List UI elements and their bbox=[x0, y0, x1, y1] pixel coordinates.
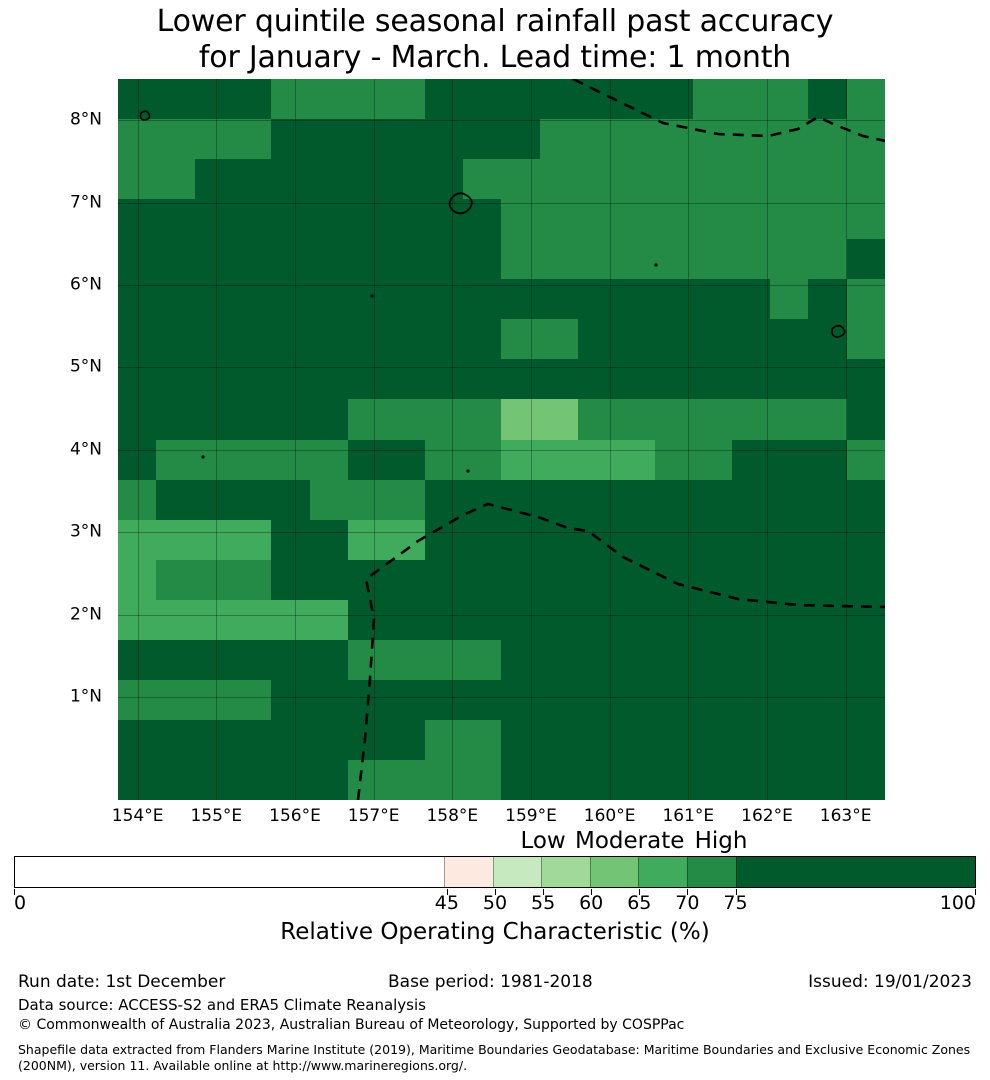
heatmap-cell bbox=[770, 199, 808, 239]
heatmap-cell bbox=[655, 520, 693, 560]
heatmap-cell bbox=[386, 480, 424, 520]
heatmap-cell bbox=[578, 720, 616, 760]
heatmap-cell bbox=[156, 440, 194, 480]
heatmap-cell bbox=[501, 640, 539, 680]
heatmap-cell bbox=[847, 760, 885, 800]
heatmap-cell bbox=[770, 279, 808, 319]
heatmap-cell bbox=[808, 720, 846, 760]
heatmap-cell bbox=[540, 319, 578, 359]
heatmap-cell bbox=[540, 359, 578, 399]
colorbar-tick-label: 45 bbox=[435, 892, 459, 914]
title-line-2: for January - March. Lead time: 1 month bbox=[0, 40, 990, 76]
heatmap-cell bbox=[156, 79, 194, 119]
heatmap-cell bbox=[271, 79, 309, 119]
x-tick-label: 163°E bbox=[820, 806, 872, 826]
heatmap-cell bbox=[808, 359, 846, 399]
heatmap-cell bbox=[348, 440, 386, 480]
heatmap-cell bbox=[233, 680, 271, 720]
heatmap-cell bbox=[425, 680, 463, 720]
heatmap-cell bbox=[655, 159, 693, 199]
colorbar-tick-label: 75 bbox=[723, 892, 747, 914]
y-tick-label: 6°N bbox=[70, 277, 102, 294]
heatmap-cell bbox=[732, 399, 770, 439]
heatmap-cell bbox=[540, 440, 578, 480]
colorbar-category-high: High bbox=[695, 828, 748, 854]
shapefile-credit-line2: (200NM), version 11. Available online at… bbox=[18, 1058, 467, 1074]
heatmap-cell bbox=[310, 359, 348, 399]
heatmap-cell bbox=[233, 279, 271, 319]
heatmap-cell bbox=[617, 239, 655, 279]
heatmap-cell bbox=[655, 239, 693, 279]
heatmap-cell bbox=[693, 359, 731, 399]
heatmap-cell bbox=[501, 480, 539, 520]
heatmap-cell bbox=[310, 480, 348, 520]
colorbar-category-labels: LowModerateHigh bbox=[0, 828, 990, 856]
heatmap-cell bbox=[156, 119, 194, 159]
heatmap-cell bbox=[310, 319, 348, 359]
colorbar-segment bbox=[541, 857, 590, 887]
heatmap-cell bbox=[655, 480, 693, 520]
heatmap-cell bbox=[808, 640, 846, 680]
heatmap-cell bbox=[655, 359, 693, 399]
heatmap-cell bbox=[540, 239, 578, 279]
heatmap-cell bbox=[847, 480, 885, 520]
heatmap-cell bbox=[310, 760, 348, 800]
copyright-text: © Commonwealth of Australia 2023, Austra… bbox=[18, 1016, 684, 1034]
heatmap-cell bbox=[156, 319, 194, 359]
heatmap-cell bbox=[540, 79, 578, 119]
heatmap-cell bbox=[118, 199, 156, 239]
heatmap-cell bbox=[540, 119, 578, 159]
heatmap-cell bbox=[386, 79, 424, 119]
heatmap-cell bbox=[271, 359, 309, 399]
heatmap-cell bbox=[693, 760, 731, 800]
heatmap-cell bbox=[617, 680, 655, 720]
heatmap-cell bbox=[578, 279, 616, 319]
heatmap-cell bbox=[118, 680, 156, 720]
heatmap-cell bbox=[847, 600, 885, 640]
heatmap-cell bbox=[463, 79, 501, 119]
heatmap-cell bbox=[693, 119, 731, 159]
heatmap-cell bbox=[425, 399, 463, 439]
heatmap-cell bbox=[693, 600, 731, 640]
heatmap-cell bbox=[233, 640, 271, 680]
heatmap-cell bbox=[233, 319, 271, 359]
heatmap-cell bbox=[540, 199, 578, 239]
heatmap-cell bbox=[463, 440, 501, 480]
heatmap-cell bbox=[732, 199, 770, 239]
heatmap-cell bbox=[118, 239, 156, 279]
heatmap-cell bbox=[501, 199, 539, 239]
x-tick-label: 162°E bbox=[741, 806, 793, 826]
heatmap-cell bbox=[540, 640, 578, 680]
heatmap-cell bbox=[693, 560, 731, 600]
heatmap-cell bbox=[348, 560, 386, 600]
colorbar-tick-label: 50 bbox=[483, 892, 507, 914]
heatmap-cell bbox=[847, 319, 885, 359]
heatmap-cell bbox=[348, 600, 386, 640]
heatmap-cell bbox=[310, 520, 348, 560]
heatmap-cell bbox=[118, 760, 156, 800]
heatmap-cell bbox=[425, 239, 463, 279]
colorbar-segment bbox=[638, 857, 687, 887]
heatmap-cell bbox=[425, 720, 463, 760]
heatmap-cell bbox=[578, 199, 616, 239]
heatmap-cell bbox=[770, 600, 808, 640]
colorbar-segment bbox=[590, 857, 639, 887]
heatmap-cell bbox=[271, 319, 309, 359]
heatmap-cell bbox=[271, 399, 309, 439]
heatmap-cell bbox=[578, 480, 616, 520]
heatmap-cell bbox=[156, 399, 194, 439]
heatmap-cell bbox=[732, 560, 770, 600]
y-axis: 1°N2°N3°N4°N5°N6°N7°N8°N bbox=[0, 79, 112, 800]
heatmap-cell bbox=[195, 279, 233, 319]
heatmap-cell bbox=[310, 199, 348, 239]
map-plot-area bbox=[118, 79, 885, 800]
heatmap-cell bbox=[617, 359, 655, 399]
heatmap-cell bbox=[156, 600, 194, 640]
heatmap-cell bbox=[732, 520, 770, 560]
heatmap-cell bbox=[732, 79, 770, 119]
heatmap-cell bbox=[655, 720, 693, 760]
heatmap-cell bbox=[655, 640, 693, 680]
heatmap-cell bbox=[847, 79, 885, 119]
heatmap-cell bbox=[655, 440, 693, 480]
heatmap-cell bbox=[156, 520, 194, 560]
heatmap-cell bbox=[617, 319, 655, 359]
heatmap-cell bbox=[271, 600, 309, 640]
heatmap-cell bbox=[808, 560, 846, 600]
heatmap-cell bbox=[847, 359, 885, 399]
heatmap-cell bbox=[463, 560, 501, 600]
heatmap-cell bbox=[770, 399, 808, 439]
heatmap-cell bbox=[233, 239, 271, 279]
heatmap-cell bbox=[540, 480, 578, 520]
heatmap-cell bbox=[425, 520, 463, 560]
heatmap-cell bbox=[655, 760, 693, 800]
heatmap-cell bbox=[348, 119, 386, 159]
heatmap-cell bbox=[271, 680, 309, 720]
heatmap-cell bbox=[310, 79, 348, 119]
heatmap-cell bbox=[501, 520, 539, 560]
colorbar-tick-label: 0 bbox=[14, 892, 26, 914]
heatmap-cell bbox=[118, 359, 156, 399]
heatmap-cell bbox=[310, 279, 348, 319]
heatmap-cell bbox=[501, 79, 539, 119]
heatmap-cell bbox=[195, 600, 233, 640]
heatmap-cell bbox=[310, 119, 348, 159]
heatmap-cell bbox=[770, 480, 808, 520]
heatmap-cell bbox=[425, 279, 463, 319]
heatmap-cell bbox=[118, 600, 156, 640]
heatmap-cell bbox=[578, 440, 616, 480]
heatmap-cell bbox=[233, 199, 271, 239]
heatmap-cell bbox=[425, 600, 463, 640]
heatmap-cell bbox=[425, 159, 463, 199]
heatmap-cell bbox=[617, 79, 655, 119]
heatmap-cell bbox=[578, 359, 616, 399]
heatmap-cell bbox=[847, 560, 885, 600]
heatmap-cell bbox=[808, 239, 846, 279]
heatmap-cell bbox=[233, 560, 271, 600]
heatmap-cell bbox=[732, 359, 770, 399]
colorbar-tick-label: 100 bbox=[940, 892, 976, 914]
heatmap-cell bbox=[425, 79, 463, 119]
heatmap-cell bbox=[617, 520, 655, 560]
footer-row-primary: Run date: 1st December Base period: 1981… bbox=[0, 972, 990, 994]
footer: Run date: 1st December Base period: 1981… bbox=[0, 972, 990, 1080]
heatmap-cell bbox=[578, 239, 616, 279]
heatmap-cell bbox=[310, 560, 348, 600]
heatmap-cell bbox=[348, 79, 386, 119]
heatmap-cell bbox=[425, 199, 463, 239]
heatmap-cell bbox=[732, 319, 770, 359]
heatmap-cell bbox=[156, 560, 194, 600]
heatmap-cell bbox=[195, 199, 233, 239]
heatmap-cell bbox=[348, 640, 386, 680]
heatmap-cell bbox=[463, 720, 501, 760]
heatmap-cell bbox=[501, 119, 539, 159]
heatmap-cell bbox=[118, 480, 156, 520]
heatmap-cell bbox=[578, 399, 616, 439]
heatmap-cell bbox=[578, 680, 616, 720]
heatmap-cell bbox=[578, 560, 616, 600]
heatmap-cell bbox=[156, 359, 194, 399]
heatmap-cell bbox=[271, 560, 309, 600]
heatmap-cell bbox=[118, 159, 156, 199]
heatmap-cell bbox=[386, 640, 424, 680]
heatmap-cell bbox=[348, 720, 386, 760]
heatmap-cell bbox=[118, 279, 156, 319]
heatmap-cell bbox=[386, 319, 424, 359]
heatmap-cell bbox=[617, 760, 655, 800]
heatmap-cell bbox=[156, 680, 194, 720]
heatmap-cell bbox=[808, 319, 846, 359]
heatmap-cell bbox=[617, 640, 655, 680]
heatmap-cell bbox=[463, 319, 501, 359]
heatmap-cell bbox=[540, 520, 578, 560]
heatmap-cell bbox=[693, 199, 731, 239]
heatmap-cell bbox=[386, 720, 424, 760]
heatmap-cell bbox=[808, 680, 846, 720]
heatmap-cell bbox=[501, 600, 539, 640]
heatmap-cell bbox=[195, 239, 233, 279]
heatmap-cell bbox=[386, 359, 424, 399]
x-tick-label: 157°E bbox=[348, 806, 400, 826]
heatmap-cell bbox=[847, 720, 885, 760]
heatmap-cell bbox=[463, 399, 501, 439]
heatmap-cell bbox=[233, 79, 271, 119]
heatmap-cell bbox=[501, 440, 539, 480]
heatmap-cell bbox=[847, 640, 885, 680]
heatmap-cell bbox=[732, 279, 770, 319]
heatmap-cell bbox=[770, 239, 808, 279]
heatmap-cell bbox=[310, 680, 348, 720]
colorbar-ticks: 045505560657075100 bbox=[14, 889, 976, 913]
heatmap-cell bbox=[770, 359, 808, 399]
x-tick-label: 155°E bbox=[190, 806, 242, 826]
heatmap-cell bbox=[348, 199, 386, 239]
heatmap-cell bbox=[655, 399, 693, 439]
x-tick-label: 158°E bbox=[426, 806, 478, 826]
heatmap-cell bbox=[501, 319, 539, 359]
heatmap-cell bbox=[578, 600, 616, 640]
heatmap-cell bbox=[540, 399, 578, 439]
heatmap-cell bbox=[770, 79, 808, 119]
heatmap-cell bbox=[501, 399, 539, 439]
heatmap-cell bbox=[578, 319, 616, 359]
x-tick-label: 154°E bbox=[112, 806, 164, 826]
y-tick-label: 4°N bbox=[70, 441, 102, 458]
colorbar-segment bbox=[444, 857, 493, 887]
heatmap-cell bbox=[693, 520, 731, 560]
heatmap-cell bbox=[310, 640, 348, 680]
heatmap-cell bbox=[501, 239, 539, 279]
heatmap-cell bbox=[501, 760, 539, 800]
heatmap-cell bbox=[693, 720, 731, 760]
run-date-text: Run date: 1st December bbox=[18, 972, 225, 992]
heatmap-cell bbox=[195, 119, 233, 159]
heatmap-cell bbox=[617, 560, 655, 600]
heatmap-cell bbox=[770, 440, 808, 480]
heatmap-cell bbox=[693, 319, 731, 359]
heatmap-cell bbox=[271, 520, 309, 560]
heatmap-cell bbox=[310, 720, 348, 760]
heatmap-cell bbox=[348, 359, 386, 399]
x-tick-label: 156°E bbox=[269, 806, 321, 826]
heatmap-cell bbox=[425, 640, 463, 680]
heatmap-cell bbox=[540, 159, 578, 199]
colorbar-segment bbox=[687, 857, 736, 887]
x-tick-label: 159°E bbox=[505, 806, 557, 826]
heatmap-cell bbox=[808, 79, 846, 119]
heatmap-cell bbox=[847, 520, 885, 560]
heatmap-cell bbox=[693, 279, 731, 319]
heatmap-cell bbox=[233, 119, 271, 159]
heatmap-cell bbox=[617, 159, 655, 199]
heatmap-cell bbox=[271, 440, 309, 480]
heatmap-cell bbox=[233, 399, 271, 439]
heatmap-cell bbox=[463, 239, 501, 279]
y-tick-label: 5°N bbox=[70, 359, 102, 376]
heatmap-cell bbox=[233, 720, 271, 760]
heatmap-cell bbox=[693, 680, 731, 720]
heatmap-cell bbox=[540, 279, 578, 319]
heatmap-cell bbox=[847, 199, 885, 239]
colorbar-segment bbox=[736, 857, 975, 887]
heatmap-cell bbox=[617, 279, 655, 319]
heatmap-cell bbox=[655, 680, 693, 720]
heatmap-cell bbox=[501, 560, 539, 600]
y-tick-label: 7°N bbox=[70, 194, 102, 211]
heatmap-cell bbox=[463, 199, 501, 239]
heatmap-cell bbox=[808, 520, 846, 560]
heatmap-cell bbox=[195, 319, 233, 359]
heatmap-cell bbox=[463, 279, 501, 319]
heatmap-cell bbox=[233, 159, 271, 199]
heatmap-cell bbox=[348, 279, 386, 319]
heatmap-cell bbox=[271, 159, 309, 199]
heatmap-cell bbox=[156, 159, 194, 199]
heatmap-cell bbox=[578, 520, 616, 560]
heatmap-cell bbox=[463, 640, 501, 680]
heatmap-cell bbox=[808, 760, 846, 800]
heatmap-cell bbox=[195, 720, 233, 760]
y-tick-label: 8°N bbox=[70, 112, 102, 129]
heatmap-cell bbox=[808, 159, 846, 199]
heatmap-cell bbox=[655, 279, 693, 319]
heatmap-cell bbox=[348, 760, 386, 800]
heatmap-cell bbox=[847, 239, 885, 279]
heatmap-cell bbox=[271, 199, 309, 239]
colorbar-category-low: Low bbox=[520, 828, 565, 854]
heatmap-cell bbox=[732, 239, 770, 279]
heatmap-cell bbox=[617, 119, 655, 159]
heatmap-cell bbox=[386, 119, 424, 159]
issued-date-text: Issued: 19/01/2023 bbox=[808, 972, 972, 992]
heatmap-cell bbox=[732, 119, 770, 159]
heatmap-cell bbox=[770, 520, 808, 560]
heatmap-cell bbox=[348, 680, 386, 720]
heatmap-cell bbox=[156, 480, 194, 520]
heatmap-cell bbox=[348, 159, 386, 199]
heatmap-cell bbox=[578, 159, 616, 199]
heatmap-cell bbox=[425, 319, 463, 359]
colorbar-tick-label: 65 bbox=[627, 892, 651, 914]
heatmap-cell bbox=[195, 640, 233, 680]
colorbar-tick-label: 55 bbox=[531, 892, 555, 914]
heatmap-cell bbox=[271, 239, 309, 279]
heatmap-cell bbox=[732, 640, 770, 680]
heatmap-cell bbox=[808, 440, 846, 480]
heatmap-cell bbox=[770, 720, 808, 760]
heatmap-cell bbox=[808, 199, 846, 239]
heatmap-cell bbox=[310, 399, 348, 439]
heatmap-cell bbox=[847, 680, 885, 720]
base-period-text: Base period: 1981-2018 bbox=[388, 972, 593, 992]
heatmap-cell bbox=[808, 279, 846, 319]
heatmap-cell bbox=[732, 159, 770, 199]
heatmap-cell bbox=[463, 520, 501, 560]
heatmap-cell bbox=[156, 760, 194, 800]
heatmap-cell bbox=[732, 760, 770, 800]
data-source-text: Data source: ACCESS-S2 and ERA5 Climate … bbox=[18, 996, 426, 1015]
heatmap-cell bbox=[195, 79, 233, 119]
heatmap-cell bbox=[195, 760, 233, 800]
heatmap-grid bbox=[118, 79, 885, 800]
heatmap-cell bbox=[118, 79, 156, 119]
heatmap-cell bbox=[693, 440, 731, 480]
heatmap-cell bbox=[847, 399, 885, 439]
heatmap-cell bbox=[271, 480, 309, 520]
heatmap-cell bbox=[463, 760, 501, 800]
heatmap-cell bbox=[271, 279, 309, 319]
heatmap-cell bbox=[463, 600, 501, 640]
heatmap-cell bbox=[732, 720, 770, 760]
heatmap-cell bbox=[655, 79, 693, 119]
heatmap-cell bbox=[693, 79, 731, 119]
heatmap-cell bbox=[386, 199, 424, 239]
heatmap-cell bbox=[386, 399, 424, 439]
heatmap-cell bbox=[386, 440, 424, 480]
heatmap-cell bbox=[118, 720, 156, 760]
heatmap-cell bbox=[732, 440, 770, 480]
heatmap-cell bbox=[540, 600, 578, 640]
heatmap-cell bbox=[156, 640, 194, 680]
heatmap-cell bbox=[386, 760, 424, 800]
heatmap-cell bbox=[310, 239, 348, 279]
